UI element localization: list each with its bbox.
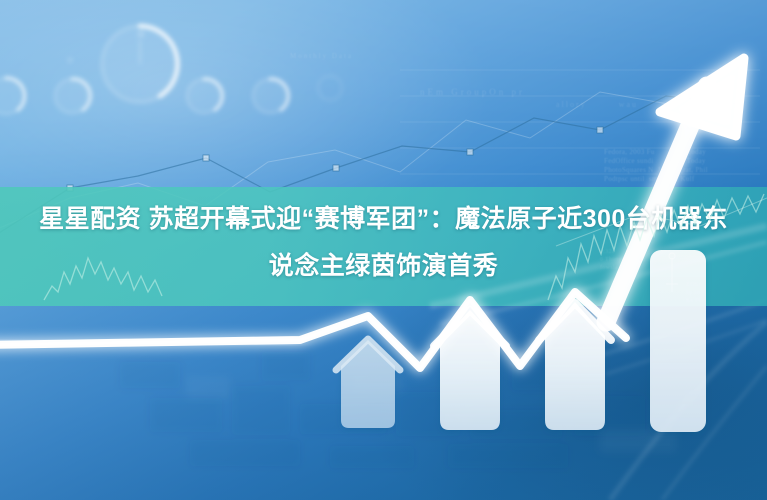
line-glow-bed — [0, 0, 767, 500]
promo-banner: nEm GroupOn pr allory wau Kall Monthly D… — [0, 0, 767, 500]
